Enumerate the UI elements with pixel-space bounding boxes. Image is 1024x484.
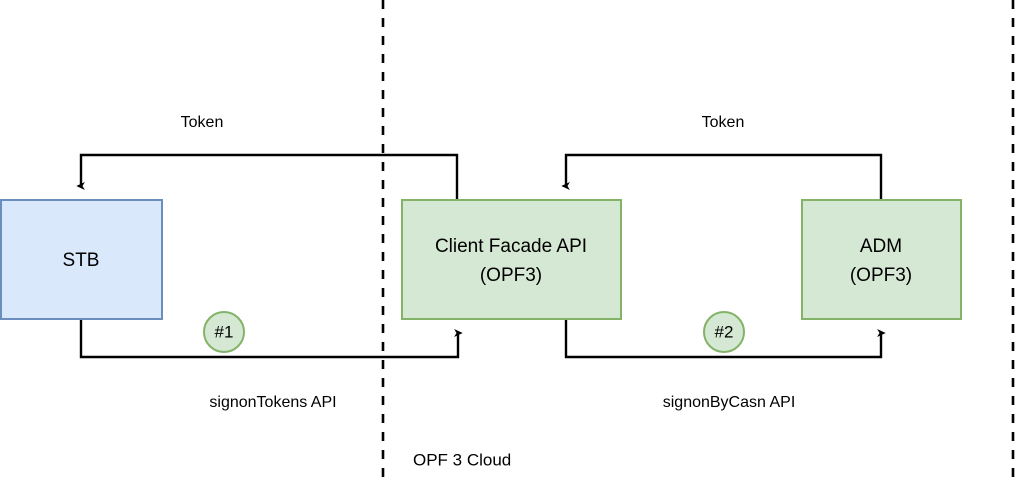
- edge-signon-tokens-api-path: [81, 320, 458, 357]
- diagram-canvas: STB Client Facade API (OPF3) ADM (OPF3) …: [0, 0, 1024, 484]
- flow-diagram: STB Client Facade API (OPF3) ADM (OPF3) …: [0, 0, 1024, 484]
- node-adm-label-line1: ADM: [860, 236, 902, 257]
- edge-label-token-to-client-facade: Token: [702, 114, 745, 131]
- edge-token-to-client-facade-path: [566, 155, 881, 199]
- edge-label-token-to-stb: Token: [181, 114, 224, 131]
- node-adm-label-line2: (OPF3): [850, 265, 912, 286]
- step-badge-1-label: #1: [215, 322, 234, 341]
- node-stb-label: STB: [63, 250, 100, 271]
- cloud-zone-label: OPF 3 Cloud: [413, 450, 511, 469]
- node-client-facade-api-label-line2: (OPF3): [480, 265, 542, 286]
- node-client-facade-api-box[interactable]: [402, 200, 621, 319]
- step-badge-2-label: #2: [715, 322, 734, 341]
- edge-token-to-stb-path: [81, 155, 457, 199]
- edge-label-signon-by-casn-api: signonByCasn API: [663, 394, 796, 411]
- node-adm-box[interactable]: [802, 200, 961, 319]
- edge-label-signon-tokens-api: signonTokens API: [209, 394, 336, 411]
- node-client-facade-api-label-line1: Client Facade API: [435, 236, 587, 257]
